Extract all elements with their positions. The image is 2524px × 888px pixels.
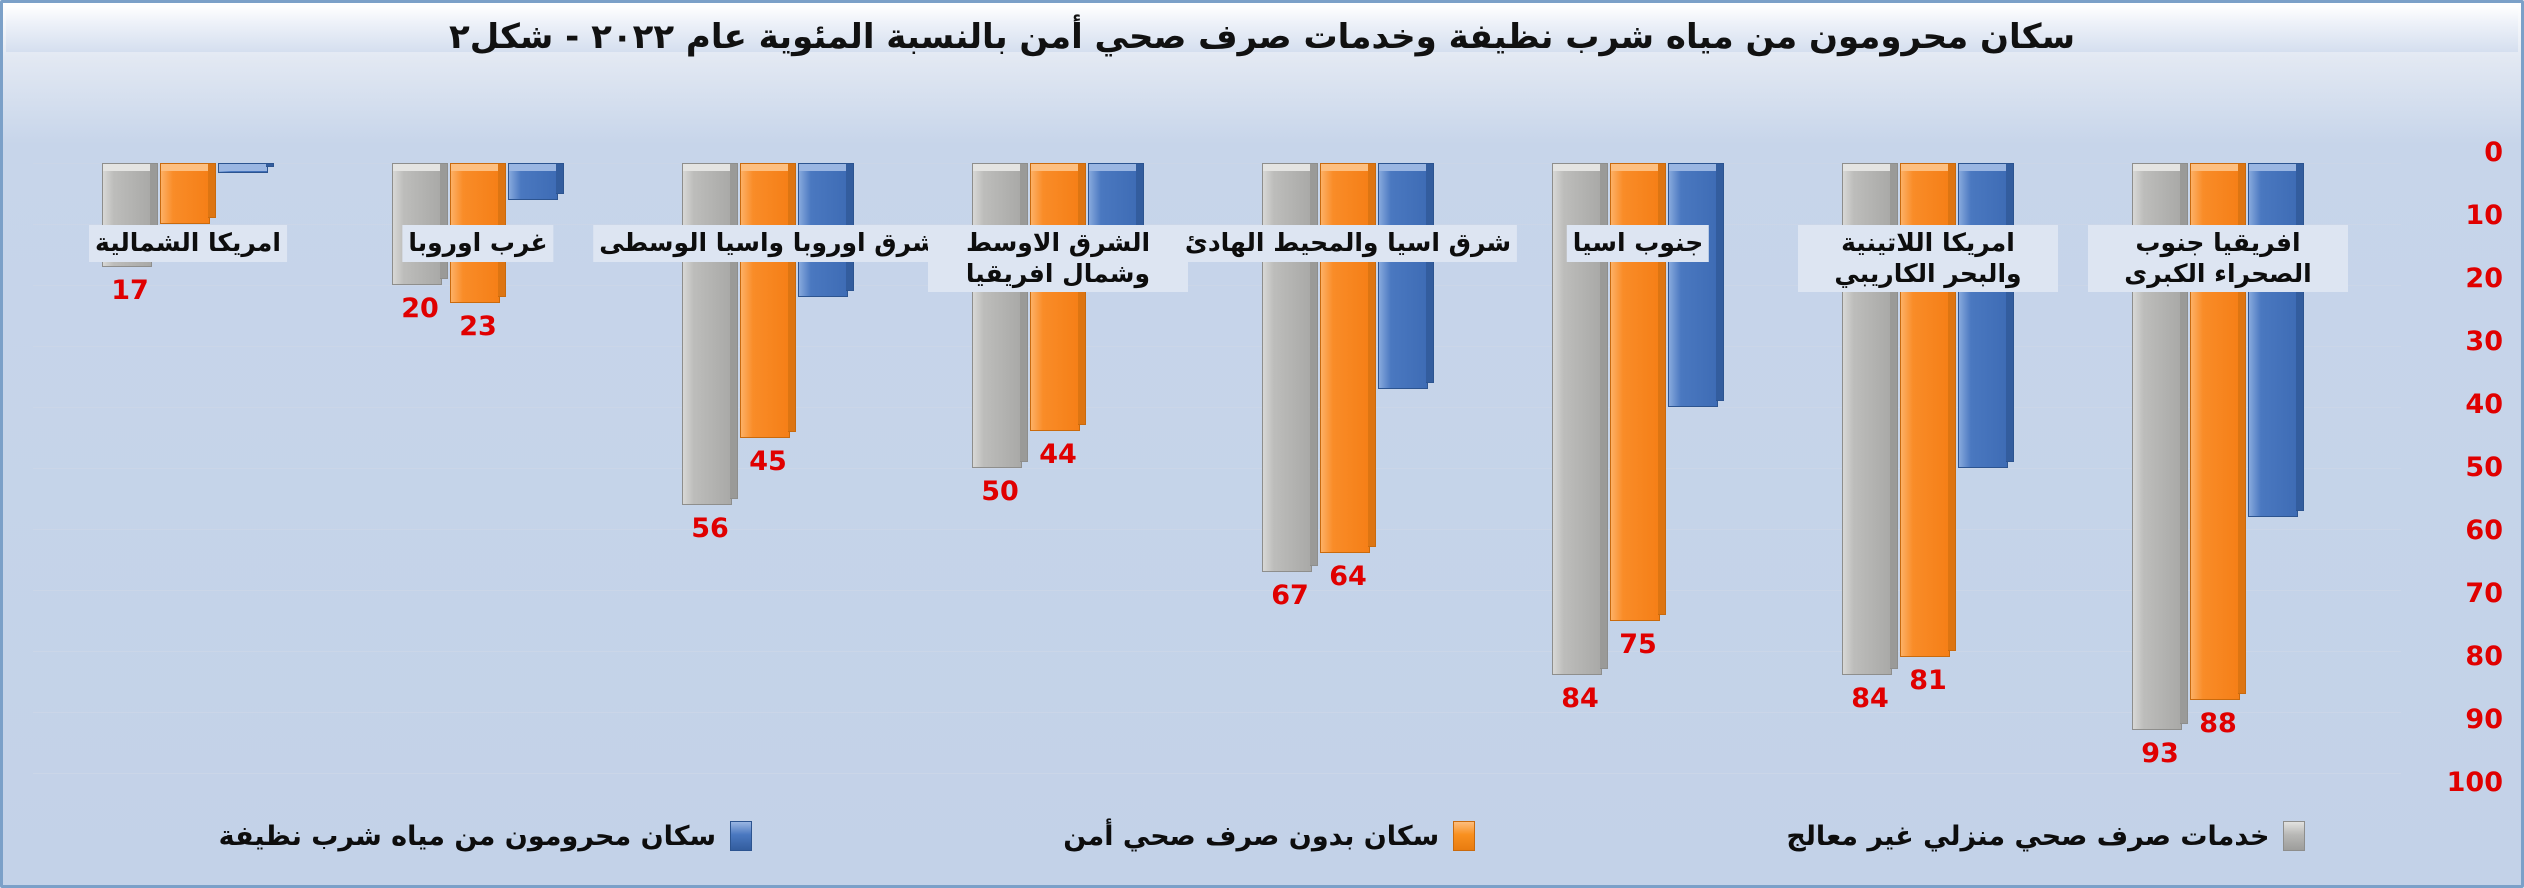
bar-blue[interactable] — [2248, 163, 2304, 517]
chart-legend: خدمات صرف صحي منزلي غير معالجسكان بدون ص… — [3, 805, 2521, 867]
y-axis-tick: 10 — [2413, 200, 2503, 231]
bar-gray[interactable] — [682, 163, 738, 505]
legend-swatch-orange — [1453, 821, 1475, 851]
data-label-orange: 81 — [1909, 665, 1947, 696]
plot-area: امريكا الشمالية1710غرب اوروبا2023شرق اور… — [43, 163, 2363, 773]
data-label-gray: 50 — [981, 476, 1019, 507]
bar-blue[interactable] — [508, 163, 564, 200]
y-axis: 0102030405060708090100 — [2407, 153, 2503, 783]
category-label: غرب اوروبا — [402, 225, 553, 262]
category-label: امريكا اللاتينية والبحر الكاريبي — [1798, 225, 2058, 292]
legend-item[interactable]: سكان محرومون من مياه شرب نظيفة — [219, 821, 752, 852]
bar-gray[interactable] — [972, 163, 1028, 468]
y-axis-tick: 60 — [2413, 515, 2503, 546]
bar-blue[interactable] — [218, 163, 274, 173]
category-label: شرق اوروبا واسيا الوسطى — [593, 225, 943, 262]
bar-blue[interactable] — [1668, 163, 1724, 407]
legend-label: سكان محرومون من مياه شرب نظيفة — [219, 821, 716, 852]
data-label-gray: 93 — [2141, 738, 2179, 769]
category-label: جنوب اسيا — [1567, 225, 1709, 262]
y-axis-tick: 0 — [2413, 137, 2503, 168]
category-label: افريقيا جنوب الصحراء الكبرى — [2088, 225, 2348, 292]
data-label-orange: 64 — [1329, 561, 1367, 592]
y-axis-tick: 40 — [2413, 389, 2503, 420]
bar-orange[interactable] — [1320, 163, 1376, 553]
data-label-gray: 17 — [111, 275, 149, 306]
category-label: امريكا الشمالية — [89, 225, 287, 262]
data-label-orange: 45 — [749, 446, 787, 477]
legend-item[interactable]: سكان بدون صرف صحي أمن — [1063, 821, 1475, 852]
y-axis-tick: 20 — [2413, 263, 2503, 294]
chart-title: سكان محرومون من مياه شرب نظيفة وخدمات صر… — [3, 17, 2521, 57]
y-axis-tick: 50 — [2413, 452, 2503, 483]
legend-item[interactable]: خدمات صرف صحي منزلي غير معالج — [1786, 821, 2305, 852]
data-label-gray: 84 — [1561, 683, 1599, 714]
chart-container: سكان محرومون من مياه شرب نظيفة وخدمات صر… — [0, 0, 2524, 888]
y-axis-tick: 90 — [2413, 704, 2503, 735]
y-axis-tick: 80 — [2413, 641, 2503, 672]
y-axis-tick: 30 — [2413, 326, 2503, 357]
bar-gray[interactable] — [392, 163, 448, 285]
data-label-orange: 44 — [1039, 439, 1077, 470]
gridline — [33, 773, 2401, 774]
bar-blue[interactable] — [1958, 163, 2014, 468]
bar-orange[interactable] — [160, 163, 216, 224]
bar-orange[interactable] — [1030, 163, 1086, 431]
data-label-orange: 88 — [2199, 708, 2237, 739]
data-label-gray: 20 — [401, 293, 439, 324]
category-label: الشرق الاوسط وشمال افريقيا — [928, 225, 1188, 292]
bar-blue[interactable] — [1378, 163, 1434, 389]
data-label-gray: 67 — [1271, 580, 1309, 611]
category-label: شرق اسيا والمحيط الهادئ — [1179, 225, 1517, 262]
y-axis-tick: 100 — [2413, 767, 2503, 798]
legend-swatch-gray — [2283, 821, 2305, 851]
data-label-orange: 23 — [459, 311, 497, 342]
legend-label: خدمات صرف صحي منزلي غير معالج — [1786, 821, 2269, 852]
data-label-gray: 84 — [1851, 683, 1889, 714]
y-axis-tick: 70 — [2413, 578, 2503, 609]
legend-swatch-blue — [730, 821, 752, 851]
bar-orange[interactable] — [740, 163, 796, 438]
legend-label: سكان بدون صرف صحي أمن — [1063, 821, 1439, 852]
data-label-gray: 56 — [691, 513, 729, 544]
data-label-orange: 75 — [1619, 629, 1657, 660]
